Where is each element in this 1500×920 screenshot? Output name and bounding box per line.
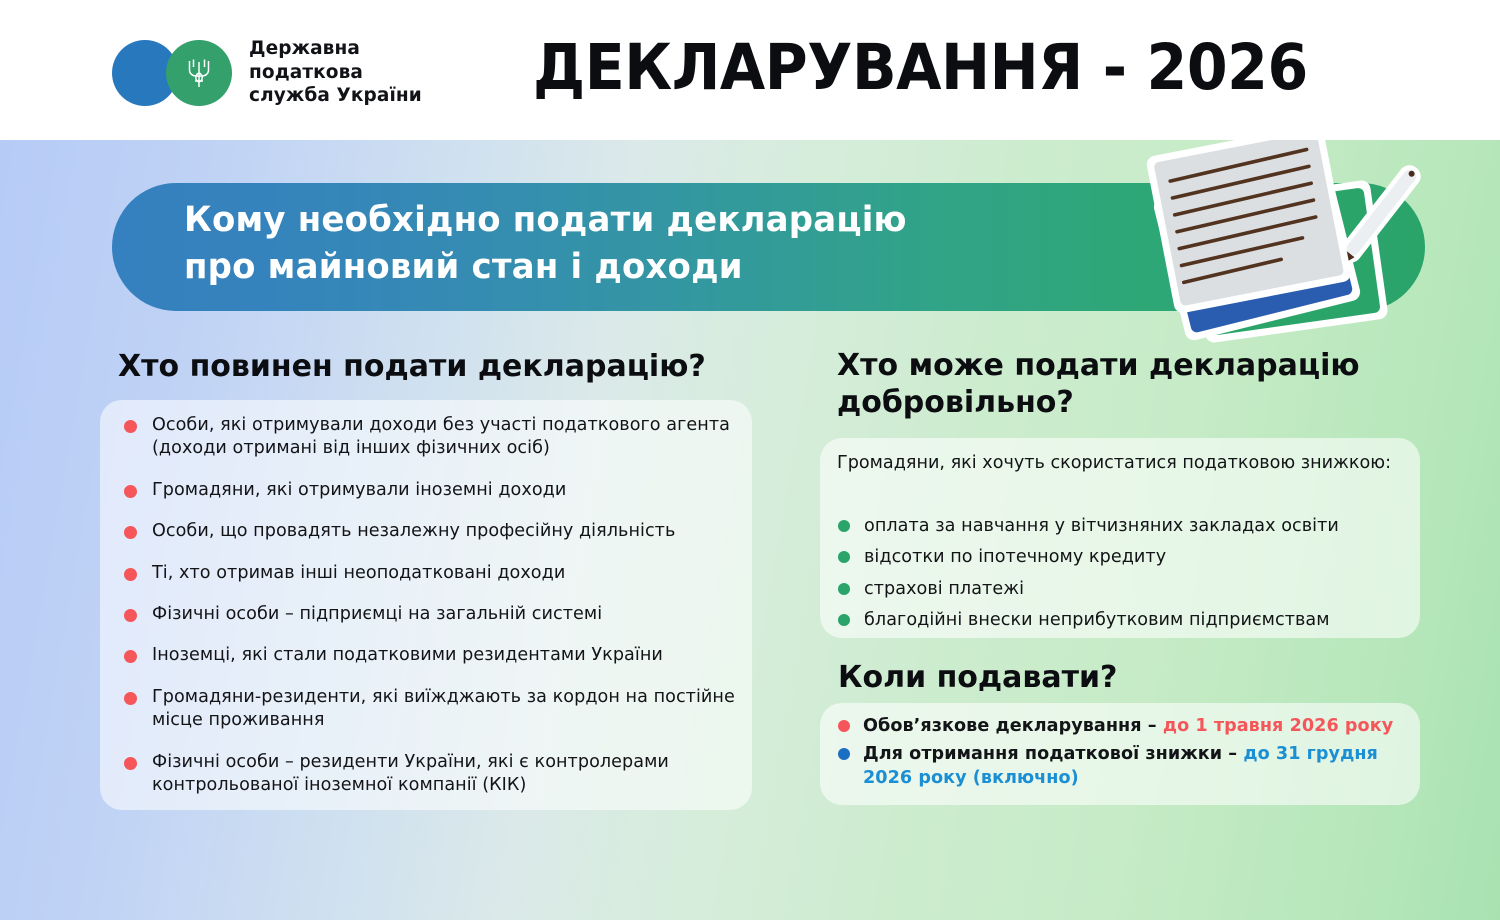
voluntary-intro-text: Громадяни, які хочуть скористатися подат…: [837, 451, 1397, 477]
list-item-label: оплата за навчання у вітчизняних заклада…: [864, 515, 1339, 538]
trident-icon: [184, 56, 214, 90]
infographic-page: Державна податкова служба України ДЕКЛАР…: [0, 0, 1500, 920]
list-item: Громадяни, які отримували іноземні доход…: [124, 479, 740, 502]
list-voluntary: оплата за навчання у вітчизняних заклада…: [838, 515, 1408, 641]
bullet-dot-icon: [838, 551, 850, 563]
deadline-label: Обов’язкове декларування –: [863, 716, 1163, 736]
list-item-label: Особи, що провадять незалежну професійну…: [152, 520, 675, 543]
bullet-dot-icon: [838, 720, 850, 732]
list-item-label: відсотки по іпотечному кредиту: [864, 546, 1166, 569]
banner-title: Кому необхідно подати декларацію про май…: [184, 197, 907, 290]
deadline-label: Для отримання податкової знижки –: [863, 744, 1243, 764]
list-item: Іноземці, які стали податковими резидент…: [124, 644, 740, 667]
list-item: Для отримання податкової знижки – до 31 …: [838, 742, 1408, 791]
list-item: благодійні внески неприбутковим підприєм…: [838, 609, 1408, 632]
green-circle-trident-icon: [166, 40, 232, 106]
list-item: Фізичні особи – підприємці на загальній …: [124, 603, 740, 626]
list-item-label: Іноземці, які стали податковими резидент…: [152, 644, 663, 667]
list-must: Особи, які отримували доходи без участі …: [124, 414, 740, 797]
bullet-dot-icon: [124, 420, 137, 433]
list-item: Ті, хто отримав інші неоподатковані дохо…: [124, 562, 740, 585]
bullet-dot-icon: [124, 485, 137, 498]
bullet-dot-icon: [124, 609, 137, 622]
list-item: відсотки по іпотечному кредиту: [838, 546, 1408, 569]
deadline-row: Обов’язкове декларування – до 1 травня 2…: [863, 714, 1393, 739]
deadline-row: Для отримання податкової знижки – до 31 …: [863, 742, 1408, 791]
bullet-dot-icon: [124, 526, 137, 539]
list-item-label: благодійні внески неприбутковим підприєм…: [864, 609, 1330, 632]
bullet-dot-icon: [838, 583, 850, 595]
list-item: Громадяни-резиденти, які виїжджають за к…: [124, 686, 740, 733]
section-heading-when: Коли подавати?: [838, 660, 1398, 697]
bullet-dot-icon: [124, 568, 137, 581]
organization-name: Державна податкова служба України: [249, 37, 422, 108]
list-when: Обов’язкове декларування – до 1 травня 2…: [838, 714, 1408, 794]
bullet-dot-icon: [124, 757, 137, 770]
bullet-dot-icon: [838, 520, 850, 532]
list-item: Особи, що провадять незалежну професійну…: [124, 520, 740, 543]
list-item: оплата за навчання у вітчизняних заклада…: [838, 515, 1408, 538]
organization-logo: Державна податкова служба України: [112, 37, 422, 108]
deadline-value: до 1 травня 2026 року: [1163, 716, 1393, 736]
list-item: страхові платежі: [838, 578, 1408, 601]
list-item-label: Ті, хто отримав інші неоподатковані дохо…: [152, 562, 565, 585]
list-item-label: страхові платежі: [864, 578, 1024, 601]
bullet-dot-icon: [124, 650, 137, 663]
section-heading-voluntary: Хто може подати декларацію добровільно?: [837, 348, 1417, 422]
list-item: Фізичні особи – резиденти України, які є…: [124, 751, 740, 798]
page-title: ДЕКЛАРУВАННЯ - 2026: [533, 36, 1308, 99]
list-item: Обов’язкове декларування – до 1 травня 2…: [838, 714, 1408, 739]
bullet-dot-icon: [838, 614, 850, 626]
list-item-label: Особи, які отримували доходи без участі …: [152, 414, 740, 461]
list-item-label: Громадяни, які отримували іноземні доход…: [152, 479, 566, 502]
section-heading-must: Хто повинен подати декларацію?: [118, 349, 818, 386]
list-item-label: Фізичні особи – резиденти України, які є…: [152, 751, 740, 798]
documents-and-pen-icon: [1125, 130, 1435, 355]
list-item-label: Фізичні особи – підприємці на загальній …: [152, 603, 602, 626]
bullet-dot-icon: [124, 692, 137, 705]
list-item-label: Громадяни-резиденти, які виїжджають за к…: [152, 686, 740, 733]
bullet-dot-icon: [838, 748, 850, 760]
list-item: Особи, які отримували доходи без участі …: [124, 414, 740, 461]
page-header: Державна податкова служба України ДЕКЛАР…: [0, 0, 1500, 140]
